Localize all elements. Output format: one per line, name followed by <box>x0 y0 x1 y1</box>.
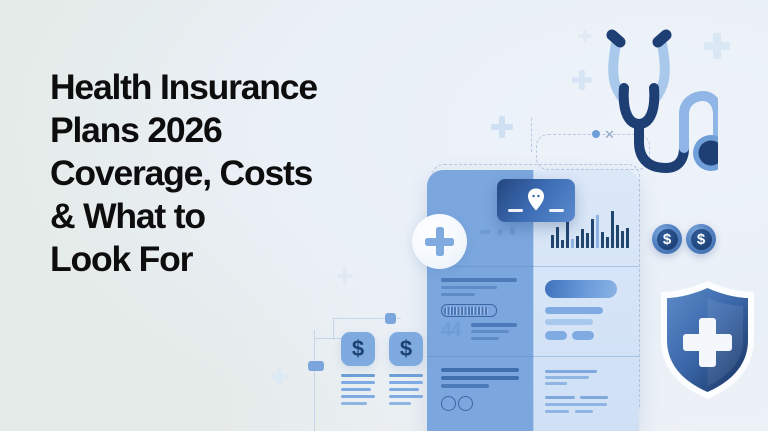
shield-cross-icon <box>655 278 760 403</box>
text-line <box>441 286 497 289</box>
chip[interactable] <box>545 331 567 340</box>
text-line <box>545 403 607 406</box>
text-line <box>441 384 489 388</box>
text-line <box>441 376 519 380</box>
dollar-card-icon: $ <box>400 336 412 362</box>
panel-row-divider <box>427 356 639 357</box>
text-line <box>545 319 593 325</box>
panel-row-divider <box>427 266 639 267</box>
chart-bar <box>621 231 624 248</box>
dollar-coin-right: $ <box>686 224 716 254</box>
text-line <box>341 395 375 398</box>
connector-node <box>308 361 324 371</box>
text-line <box>471 330 509 333</box>
chart-bar <box>596 215 599 248</box>
text-line <box>441 293 475 296</box>
placeholder-mark <box>497 229 503 235</box>
chart-bar <box>576 236 579 248</box>
text-line <box>389 402 411 405</box>
chart-bar <box>626 228 629 248</box>
background-cross-icon <box>491 116 513 138</box>
medical-cross-badge <box>412 214 467 269</box>
text-line <box>389 395 423 398</box>
text-line <box>580 396 608 399</box>
chart-bar <box>591 219 594 248</box>
dollar-card-icon: $ <box>352 336 364 362</box>
dollar-coin-icon: $ <box>691 229 712 250</box>
member-id-card[interactable] <box>497 179 575 222</box>
text-line <box>471 337 499 340</box>
chart-bar <box>586 233 589 248</box>
card-dash <box>508 209 523 212</box>
primary-action-bar[interactable] <box>545 280 617 298</box>
connector-node <box>385 313 396 324</box>
text-line <box>545 382 567 385</box>
text-line <box>341 374 375 377</box>
connector-line <box>314 330 315 431</box>
background-cross-icon <box>572 70 592 90</box>
chart-bar <box>561 240 564 248</box>
dashed-guide-line <box>531 118 532 152</box>
text-line <box>441 368 519 372</box>
stethoscope-icon <box>590 18 718 183</box>
text-line <box>545 410 569 413</box>
cost-card-one[interactable]: $ <box>341 332 375 366</box>
cost-card-two[interactable]: $ <box>389 332 423 366</box>
hero-banner: ✕ Health Insurance Plans 2026 Coverage, … <box>0 0 768 431</box>
text-line <box>441 278 517 282</box>
chart-bar <box>566 221 569 248</box>
dollar-coin-left: $ <box>652 224 682 254</box>
chart-bar <box>616 225 619 248</box>
toggle-circle[interactable] <box>458 396 473 411</box>
chart-bar <box>606 237 609 248</box>
dollar-coin-icon: $ <box>657 229 678 250</box>
chip[interactable] <box>572 331 594 340</box>
card-dash <box>549 209 564 212</box>
placeholder-mark <box>480 230 490 234</box>
chart-bar <box>581 229 584 248</box>
text-line <box>341 402 367 405</box>
chart-bar <box>571 239 574 248</box>
chart-bar <box>551 235 554 248</box>
chart-bar <box>601 232 604 248</box>
text-line <box>389 381 423 384</box>
text-line <box>545 370 597 373</box>
text-line <box>471 323 517 327</box>
placeholder-mark <box>510 227 515 235</box>
connector-line <box>333 318 334 340</box>
text-line <box>341 388 371 391</box>
background-cross-icon <box>271 368 288 385</box>
chart-bar <box>556 227 559 248</box>
text-line <box>575 410 593 413</box>
text-line <box>389 388 419 391</box>
text-line <box>545 307 603 314</box>
stat-number: 44 <box>441 320 460 342</box>
text-line <box>389 374 423 377</box>
page-title: Health Insurance Plans 2026 Coverage, Co… <box>50 66 450 281</box>
text-line <box>545 396 575 399</box>
chart-bar <box>611 211 614 248</box>
toggle-circle[interactable] <box>441 396 456 411</box>
text-line <box>341 381 375 384</box>
coverage-progress-bar <box>441 304 497 317</box>
text-line <box>545 376 589 379</box>
shield-pin-icon <box>526 187 546 212</box>
